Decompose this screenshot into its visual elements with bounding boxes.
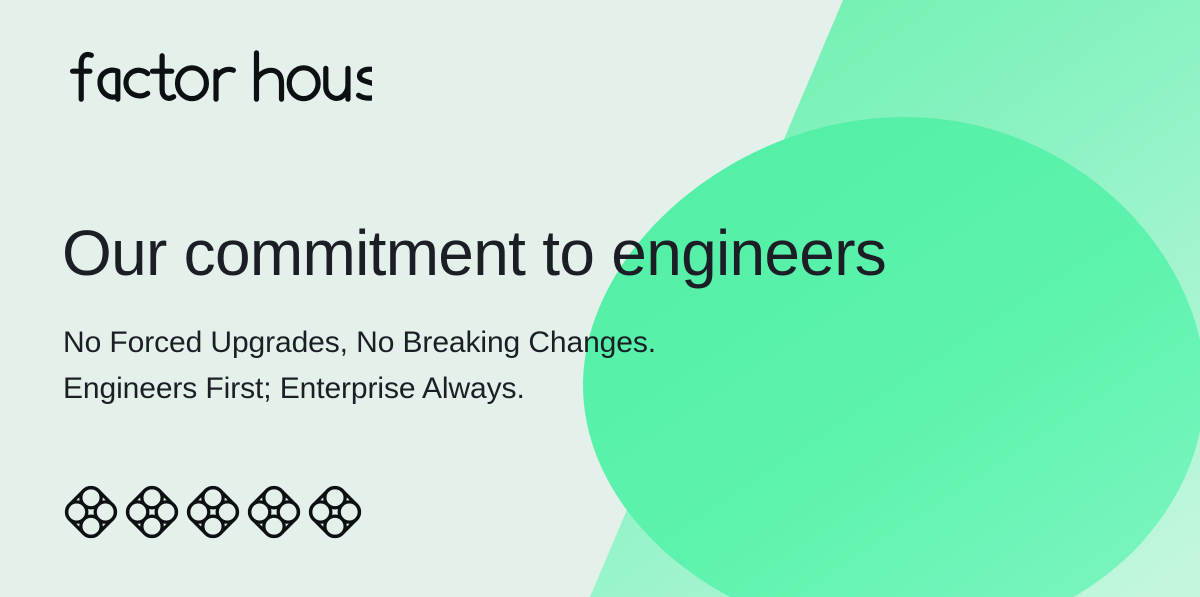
- content-layer: factor house: [0, 0, 1200, 597]
- promo-banner: factor house: [0, 0, 1200, 597]
- page-title: Our commitment to engineers: [62, 219, 886, 288]
- factor-house-diamond-lattice-mark: [62, 483, 120, 541]
- decorative-mark-row: [62, 483, 364, 541]
- subtitle: No Forced Upgrades, No Breaking Changes.…: [63, 320, 656, 412]
- factor-house-diamond-lattice-mark: [306, 483, 364, 541]
- subtitle-line-1: No Forced Upgrades, No Breaking Changes.: [63, 320, 656, 366]
- factor-house-logo[interactable]: factor house: [62, 50, 372, 102]
- factor-house-diamond-lattice-mark: [123, 483, 181, 541]
- subtitle-line-2: Engineers First; Enterprise Always.: [63, 366, 656, 412]
- factor-house-diamond-lattice-mark: [245, 483, 303, 541]
- factor-house-diamond-lattice-mark: [184, 483, 242, 541]
